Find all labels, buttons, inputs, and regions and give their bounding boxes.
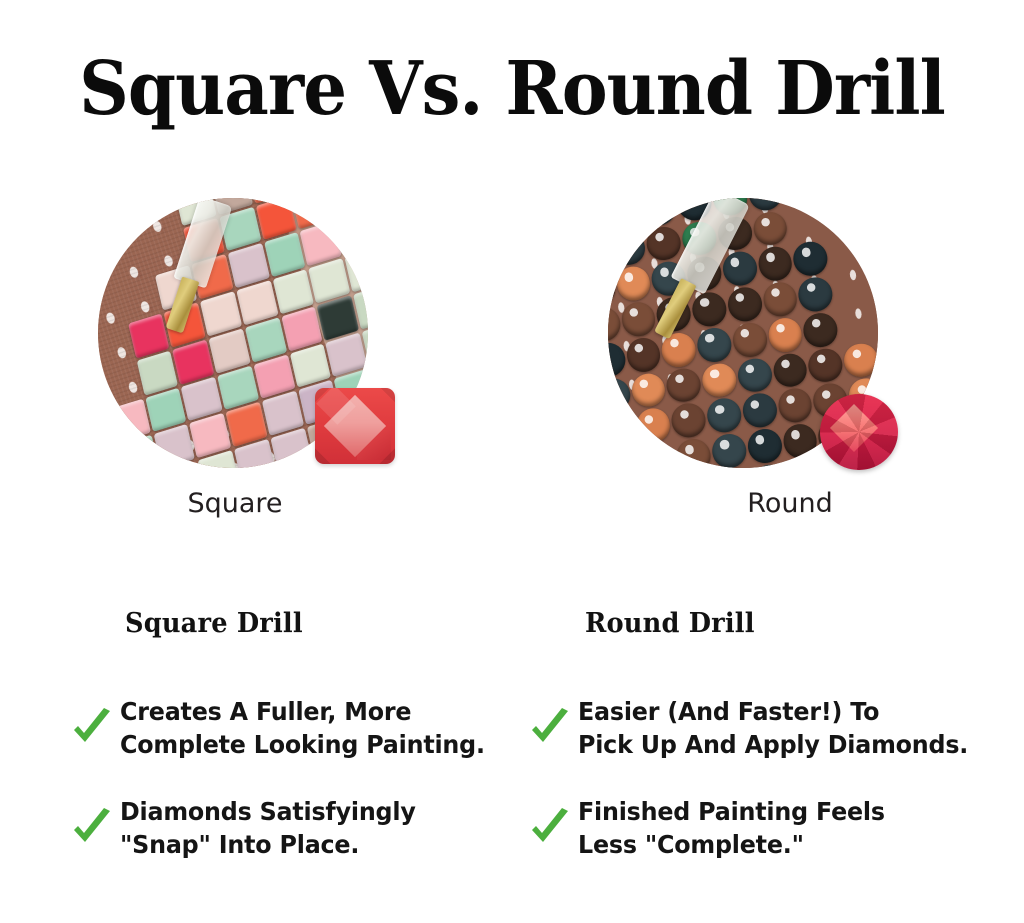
bead xyxy=(857,198,878,232)
bead xyxy=(756,245,794,283)
round-drill-bullet-list: Easier (And Faster!) To Pick Up And Appl… xyxy=(528,692,998,892)
bead xyxy=(690,290,728,328)
bead xyxy=(782,198,820,207)
round-photo-block xyxy=(608,198,908,478)
bead xyxy=(639,442,677,468)
bead xyxy=(608,411,637,449)
bead xyxy=(336,210,368,255)
bead xyxy=(781,422,819,460)
bead xyxy=(802,311,840,349)
bead xyxy=(705,396,743,434)
bead xyxy=(609,229,647,267)
bead xyxy=(817,198,855,202)
bead xyxy=(867,265,878,303)
bead xyxy=(741,392,779,430)
bead xyxy=(726,285,764,323)
bead xyxy=(827,235,865,273)
bead xyxy=(695,326,733,364)
bead xyxy=(792,240,830,278)
bead xyxy=(731,321,769,359)
list-item-label: Finished Painting Feels Less "Complete." xyxy=(578,795,885,861)
square-drill-bullet-list: Creates A Fuller, More Complete Looking … xyxy=(70,692,540,892)
bead xyxy=(608,341,627,379)
bead xyxy=(624,336,662,374)
round-gem-icon xyxy=(820,394,898,470)
bead xyxy=(746,427,784,465)
bead xyxy=(645,224,683,262)
bead xyxy=(806,346,844,384)
bead xyxy=(862,230,878,268)
gem-facet-edges xyxy=(315,388,395,464)
list-item-label: Creates A Fuller, More Complete Looking … xyxy=(120,695,485,761)
square-drill-heading: Square Drill xyxy=(125,608,303,639)
bead xyxy=(771,351,809,389)
list-item: Easier (And Faster!) To Pick Up And Appl… xyxy=(528,692,998,764)
bead xyxy=(877,336,878,374)
bead xyxy=(761,280,799,318)
bead xyxy=(715,467,753,468)
bead xyxy=(766,316,804,354)
gem-facet-edges xyxy=(820,394,898,470)
square-photo-caption: Square xyxy=(85,488,385,519)
square-photo-block xyxy=(98,198,398,478)
list-item-label: Diamonds Satisfyingly "Snap" Into Place. xyxy=(120,795,416,861)
bead xyxy=(837,306,875,344)
bead xyxy=(822,199,860,237)
bead xyxy=(634,406,672,444)
bead xyxy=(721,250,759,288)
bead xyxy=(629,371,667,409)
bead xyxy=(608,234,612,272)
bead xyxy=(842,341,878,379)
bead xyxy=(608,198,642,232)
bead xyxy=(670,401,708,439)
bead xyxy=(776,387,814,425)
round-photo-caption: Round xyxy=(640,488,940,519)
check-icon xyxy=(528,706,572,750)
bead xyxy=(608,447,642,468)
infographic-page: Square Vs. Round Drill xyxy=(0,0,1024,923)
bead xyxy=(153,424,195,468)
bead xyxy=(608,376,632,414)
list-item: Finished Painting Feels Less "Complete." xyxy=(528,792,998,864)
list-item-label: Easier (And Faster!) To Pick Up And Appl… xyxy=(578,695,968,761)
round-drill-heading: Round Drill xyxy=(585,608,755,639)
bead xyxy=(797,275,835,313)
bead xyxy=(872,301,878,339)
check-icon xyxy=(528,806,572,850)
bead xyxy=(665,366,703,404)
bead xyxy=(746,198,784,212)
bead xyxy=(751,462,789,468)
bead xyxy=(832,270,870,308)
list-item: Diamonds Satisfyingly "Snap" Into Place. xyxy=(70,792,540,864)
bead xyxy=(700,361,738,399)
bead xyxy=(736,356,774,394)
bead xyxy=(640,198,678,227)
bead xyxy=(614,265,652,303)
check-icon xyxy=(70,706,114,750)
bead xyxy=(675,437,713,468)
bead xyxy=(608,305,622,343)
check-icon xyxy=(70,806,114,850)
list-item: Creates A Fuller, More Complete Looking … xyxy=(70,692,540,764)
bead xyxy=(787,204,825,242)
bead xyxy=(619,300,657,338)
bead xyxy=(608,270,617,308)
square-gem-icon xyxy=(315,388,395,464)
bead xyxy=(751,209,789,247)
bead xyxy=(271,428,313,468)
page-title: Square Vs. Round Drill xyxy=(36,48,988,130)
bead xyxy=(786,457,824,468)
bead xyxy=(710,432,748,468)
